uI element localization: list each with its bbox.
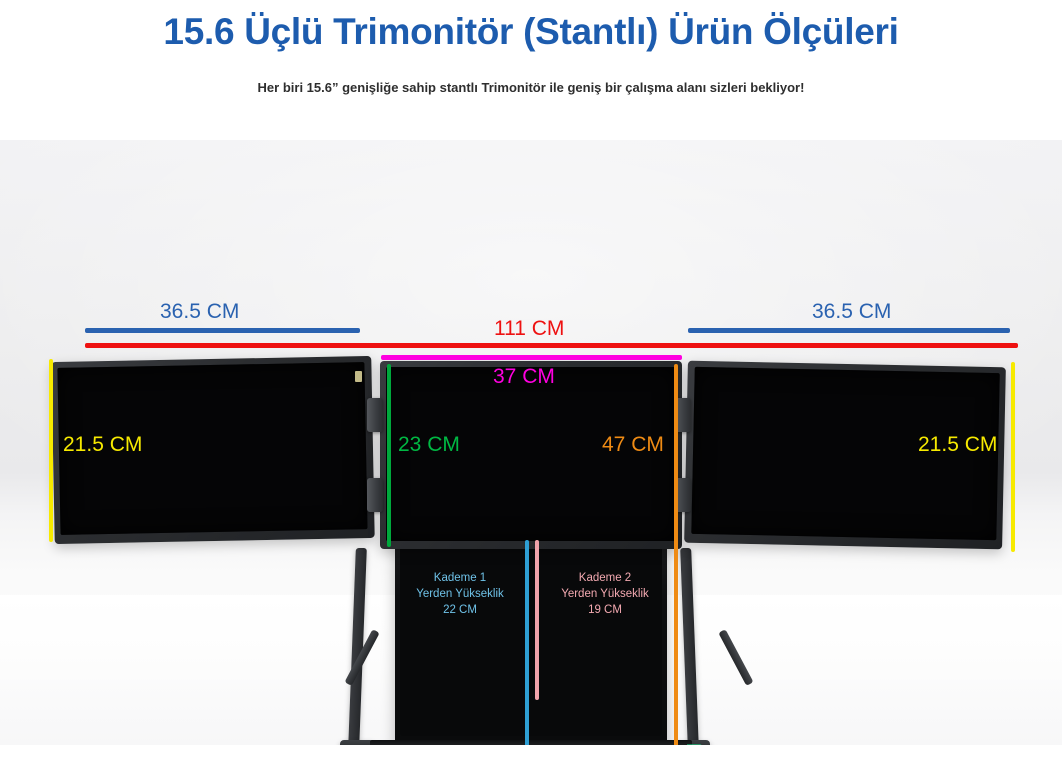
- hinge-left-top: [367, 398, 383, 432]
- measure-line-left-height: [49, 359, 53, 542]
- measure-label-right-width: 36.5 CM: [812, 300, 891, 324]
- measure-label-left-width: 36.5 CM: [160, 300, 239, 324]
- kademe1-title: Kademe 1: [400, 570, 520, 586]
- product-diagram-stage: 36.5 CM 36.5 CM 111 CM 37 CM 21.5 CM 21.…: [0, 140, 1062, 745]
- kademe1-value: 22 CM: [400, 602, 520, 618]
- measure-line-center-width: [381, 355, 682, 360]
- kademe2-title: Kademe 2: [545, 570, 665, 586]
- page-subtitle: Her biri 15.6” genişliğe sahip stantlı T…: [0, 80, 1062, 95]
- measure-label-left-height: 21.5 CM: [63, 433, 142, 457]
- measure-label-total-height: 47 CM: [602, 433, 664, 457]
- kademe2-description: Yerden Yükseklik: [545, 586, 665, 602]
- measure-line-right-width: [688, 328, 1010, 333]
- page-title: 15.6 Üçlü Trimonitör (Stantlı) Ürün Ölçü…: [0, 11, 1062, 53]
- kademe1-description: Yerden Yükseklik: [400, 586, 520, 602]
- kademe2-value: 19 CM: [545, 602, 665, 618]
- measure-label-right-height: 21.5 CM: [918, 433, 997, 457]
- measure-label-total-width: 111 CM: [494, 317, 564, 341]
- stand-foot-left: [340, 740, 374, 745]
- measure-line-kademe1: [525, 540, 529, 745]
- kademe2-annotation: Kademe 2 Yerden Yükseklik 19 CM: [545, 570, 665, 618]
- page-header: 15.6 Üçlü Trimonitör (Stantlı) Ürün Ölçü…: [0, 0, 1062, 140]
- measure-label-center-height: 23 CM: [398, 433, 460, 457]
- laptop-hinge-strip: [370, 740, 692, 745]
- measure-line-center-height: [387, 364, 391, 547]
- kademe1-annotation: Kademe 1 Yerden Yükseklik 22 CM: [400, 570, 520, 618]
- measure-label-center-width: 37 CM: [493, 365, 555, 389]
- hinge-left-bottom: [367, 478, 383, 512]
- measure-line-total-width: [85, 343, 1018, 348]
- measure-line-total-height: [674, 364, 678, 745]
- measure-line-left-width: [85, 328, 360, 333]
- measure-line-right-height: [1011, 362, 1015, 552]
- measure-line-kademe2: [535, 540, 539, 700]
- webcam-icon: [355, 371, 362, 382]
